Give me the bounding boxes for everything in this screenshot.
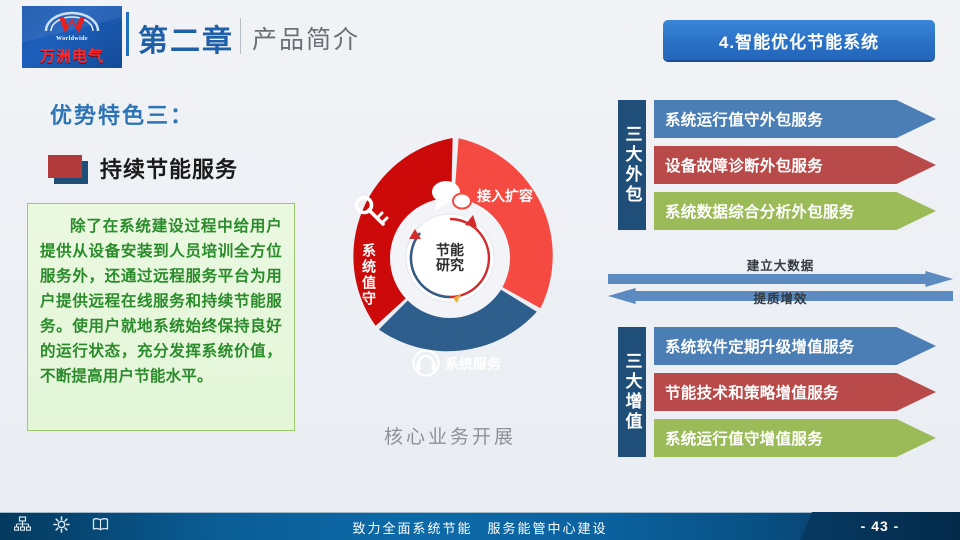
connector-label-top: 建立大数据 xyxy=(608,255,953,274)
bullet-heading: 持续节能服务 xyxy=(48,152,238,184)
headset-icon xyxy=(414,351,439,376)
page-number: - 43 - xyxy=(861,518,900,534)
group-tag-valueadd-label: 三大增值 xyxy=(620,352,645,432)
donut-label-1: 系统服务 xyxy=(445,356,502,372)
w-shield-icon xyxy=(22,11,122,37)
header-accent-bar xyxy=(126,12,129,56)
advantage-heading: 优势特色三： xyxy=(50,98,194,130)
section-banner-label: 4.智能优化节能系统 xyxy=(719,28,879,53)
group-tag-outsourcing: 三大外包 xyxy=(618,100,646,230)
donut-label-2: 系统值守 xyxy=(361,242,377,307)
arrow-item-label: 系统数据综合分析外包服务 xyxy=(654,200,855,222)
logo-chinese-name: 万洲电气 xyxy=(22,45,122,66)
connector-label-bottom: 提质增效 xyxy=(608,288,953,307)
logo-english-name: Worldwide xyxy=(22,36,122,42)
connector-arrows: 建立大数据 提质增效 xyxy=(608,255,953,317)
section-banner: 4.智能优化节能系统 xyxy=(663,20,935,60)
page-number-badge: - 43 - xyxy=(800,512,960,540)
bullet-heading-label: 持续节能服务 xyxy=(100,152,238,184)
arrow-item-label: 系统运行值守增值服务 xyxy=(654,427,823,449)
arrow-item[interactable]: 系统软件定期升级增值服务 xyxy=(654,327,936,365)
outsourcing-group: 三大外包 系统运行值守外包服务 设备故障诊断外包服务 系统数据综合分析外包服务 xyxy=(618,100,948,240)
arrow-item[interactable]: 系统数据综合分析外包服务 xyxy=(654,192,936,230)
valueadd-group: 三大增值 系统软件定期升级增值服务 节能技术和策略增值服务 系统运行值守增值服务 xyxy=(618,327,948,467)
company-logo: Worldwide 万洲电气 xyxy=(22,6,122,68)
chapter-title: 第二章 xyxy=(138,16,234,60)
donut-label-0: 接入扩容 xyxy=(477,188,533,204)
header-divider xyxy=(240,18,241,54)
page-title: 产品简介 xyxy=(252,20,360,56)
slide: Worldwide 万洲电气 第二章 产品简介 优势特色三： 持续节能服务 除了… xyxy=(0,0,960,540)
arrow-item[interactable]: 系统运行值守外包服务 xyxy=(654,100,936,138)
group-tag-outsourcing-label: 三大外包 xyxy=(620,125,645,205)
valueadd-arrow-list: 系统软件定期升级增值服务 节能技术和策略增值服务 系统运行值守增值服务 xyxy=(654,327,936,465)
arrow-item-label: 系统运行值守外包服务 xyxy=(654,108,823,130)
description-note-box: 除了在系统建设过程中给用户提供从设备安装到人员培训全方位服务外，还通过远程服务平… xyxy=(27,203,295,431)
arrow-item[interactable]: 系统运行值守增值服务 xyxy=(654,419,936,457)
arrow-item[interactable]: 节能技术和策略增值服务 xyxy=(654,373,936,411)
arrow-item-label: 节能技术和策略增值服务 xyxy=(654,381,839,403)
description-note-text: 除了在系统建设过程中给用户提供从设备安装到人员培训全方位服务外，还通过远程服务平… xyxy=(40,214,282,389)
core-business-donut-chart: 接入扩容 系统服务 系统值守 节能 研究 xyxy=(325,133,575,383)
square-bullet-icon xyxy=(48,155,86,182)
chart-caption: 核心业务开展 xyxy=(325,422,575,449)
arrow-item-label: 系统软件定期升级增值服务 xyxy=(654,335,855,357)
arrow-item[interactable]: 设备故障诊断外包服务 xyxy=(654,146,936,184)
group-tag-valueadd: 三大增值 xyxy=(618,327,646,457)
arrow-item-label: 设备故障诊断外包服务 xyxy=(654,154,823,176)
outsourcing-arrow-list: 系统运行值守外包服务 设备故障诊断外包服务 系统数据综合分析外包服务 xyxy=(654,100,936,238)
footer-bar: 致力全面系统节能 服务能管中心建设 - 43 - xyxy=(0,512,960,540)
